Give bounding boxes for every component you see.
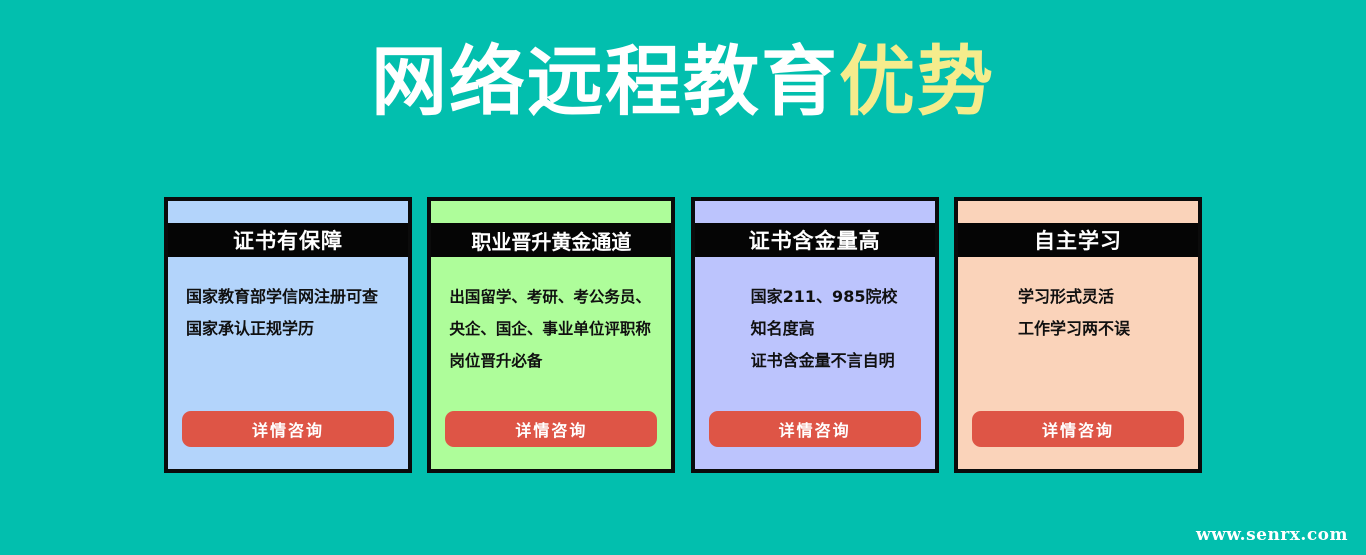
card-body: 学习形式灵活 工作学习两不误 详情咨询 [958,257,1198,469]
card-line: 知名度高 [751,313,923,345]
card-body: 出国留学、考研、考公务员、 央企、国企、事业单位评职称 岗位晋升必备 详情咨询 [431,257,671,469]
page-title-primary: 网络远程教育 [371,37,839,126]
card-cta-wrapper: 详情咨询 [970,411,1186,469]
card-text-block: 出国留学、考研、考公务员、 央企、国企、事业单位评职称 岗位晋升必备 [443,281,659,411]
card-body: 国家教育部学信网注册可查 国家承认正规学历 详情咨询 [168,257,408,469]
page-title-accent: 优势 [839,37,995,126]
page-title: 网络远程教育优势 [0,42,1366,122]
card-top-strip [431,201,671,223]
card-line: 央企、国企、事业单位评职称 [449,313,659,345]
site-watermark: www.senrx.com [1196,525,1348,545]
card-line: 岗位晋升必备 [449,345,659,377]
details-inquiry-button[interactable]: 详情咨询 [445,411,657,447]
card-top-strip [958,201,1198,223]
card-cta-wrapper: 详情咨询 [180,411,396,469]
card-line: 学习形式灵活 [1018,281,1186,313]
card-text-block: 学习形式灵活 工作学习两不误 [970,281,1186,411]
card-body: 国家211、985院校 知名度高 证书含金量不言自明 详情咨询 [695,257,935,469]
feature-card-certificate-value[interactable]: 证书含金量高 国家211、985院校 知名度高 证书含金量不言自明 详情咨询 [691,197,939,473]
feature-card-self-study[interactable]: 自主学习 学习形式灵活 工作学习两不误 详情咨询 [954,197,1202,473]
card-title: 职业晋升黄金通道 [431,223,671,257]
feature-card-certificate-guarantee[interactable]: 证书有保障 国家教育部学信网注册可查 国家承认正规学历 详情咨询 [164,197,412,473]
card-title: 证书含金量高 [695,223,935,257]
feature-card-row: 证书有保障 国家教育部学信网注册可查 国家承认正规学历 详情咨询 职业晋升黄金通… [164,197,1202,473]
card-cta-wrapper: 详情咨询 [443,411,659,469]
card-line: 国家211、985院校 [751,281,923,313]
details-inquiry-button[interactable]: 详情咨询 [972,411,1184,447]
card-text-block: 国家211、985院校 知名度高 证书含金量不言自明 [707,281,923,411]
card-line: 工作学习两不误 [1018,313,1186,345]
details-inquiry-button[interactable]: 详情咨询 [709,411,921,447]
card-top-strip [168,201,408,223]
card-cta-wrapper: 详情咨询 [707,411,923,469]
card-line: 国家教育部学信网注册可查 [186,281,396,313]
card-top-strip [695,201,935,223]
card-text-block: 国家教育部学信网注册可查 国家承认正规学历 [180,281,396,411]
details-inquiry-button[interactable]: 详情咨询 [182,411,394,447]
card-line: 证书含金量不言自明 [751,345,923,377]
card-title: 自主学习 [958,223,1198,257]
card-line: 国家承认正规学历 [186,313,396,345]
card-title: 证书有保障 [168,223,408,257]
feature-card-career-promotion[interactable]: 职业晋升黄金通道 出国留学、考研、考公务员、 央企、国企、事业单位评职称 岗位晋… [427,197,675,473]
card-line: 出国留学、考研、考公务员、 [449,281,659,313]
promo-banner: 网络远程教育优势 证书有保障 国家教育部学信网注册可查 国家承认正规学历 详情咨… [0,0,1366,555]
